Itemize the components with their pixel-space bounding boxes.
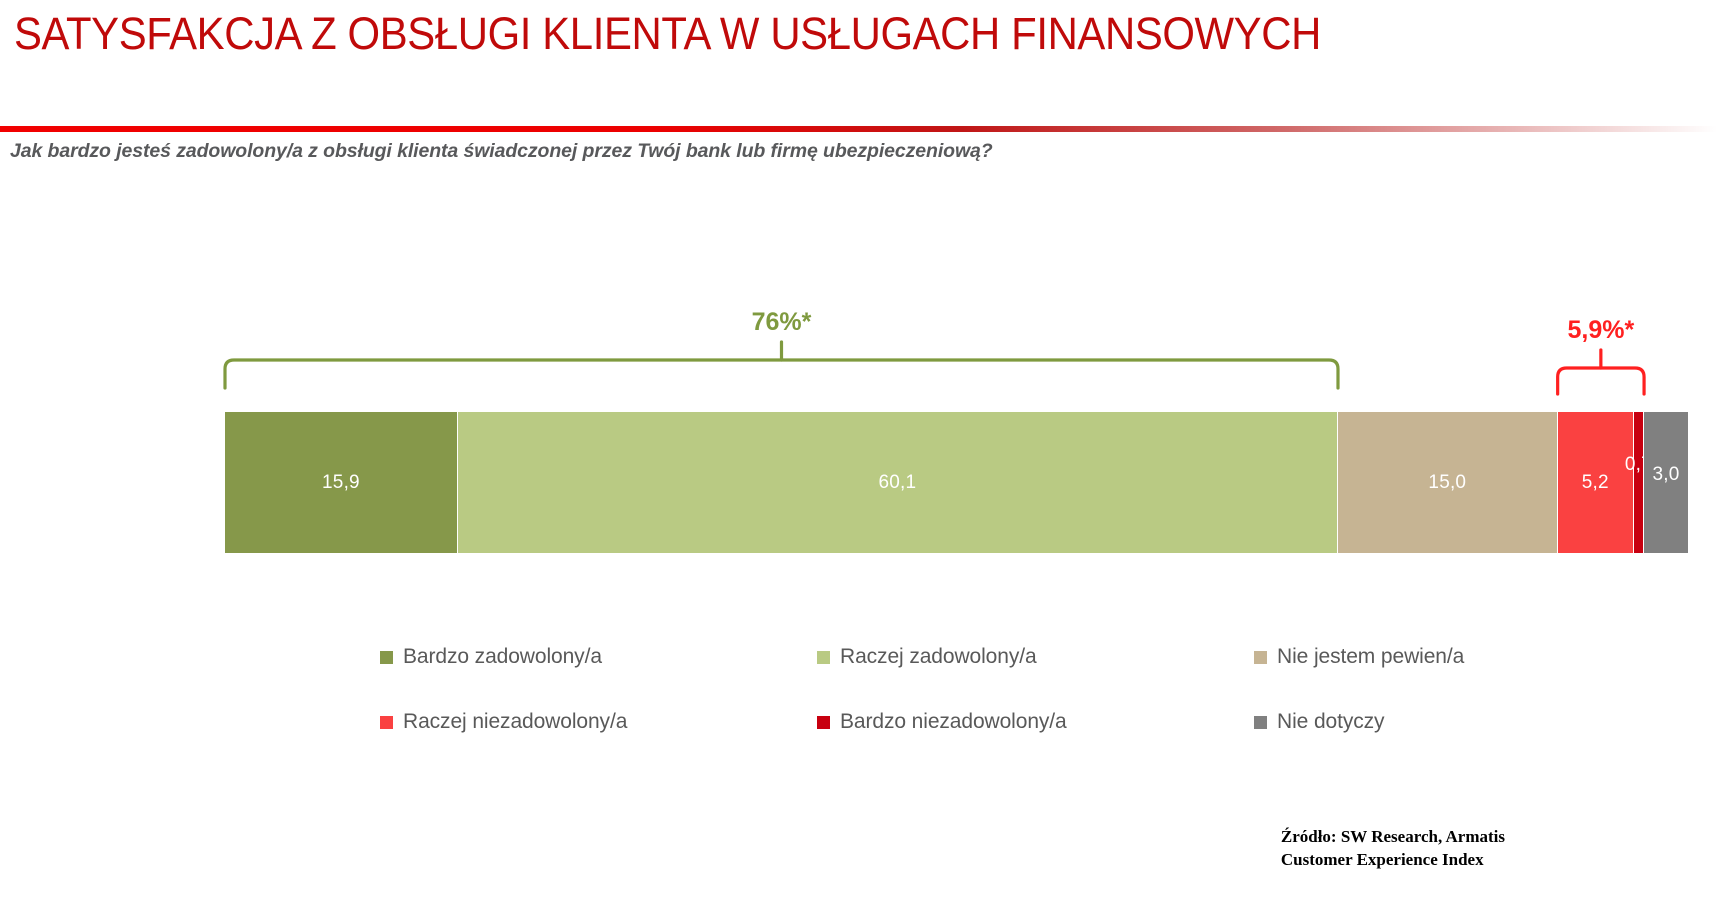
page-title: SATYSFAKCJA Z OBSŁUGI KLIENTA W USŁUGACH… (14, 6, 1465, 62)
legend-item[interactable]: Bardzo zadowolony/a (380, 645, 817, 669)
legend-label: Nie jestem pewien/a (1277, 645, 1464, 669)
legend-swatch-icon (380, 651, 393, 664)
legend-label: Bardzo niezadowolony/a (840, 710, 1067, 734)
bar-segment-value: 60,1 (879, 472, 917, 494)
bracket-label-negative: 5,9%* (1568, 316, 1635, 345)
legend-swatch-icon (817, 651, 830, 664)
bracket-label-positive: 76%* (752, 308, 812, 337)
legend-item[interactable]: Nie jestem pewien/a (1254, 645, 1554, 669)
legend-label: Bardzo zadowolony/a (403, 645, 602, 669)
bar-segment: 0,7 (1634, 412, 1644, 553)
legend-item[interactable]: Raczej niezadowolony/a (380, 710, 817, 734)
legend-swatch-icon (1254, 716, 1267, 729)
bar-segment-value: 15,9 (322, 472, 360, 494)
bar-segment-value: 5,2 (1582, 472, 1609, 494)
legend-item[interactable]: Bardzo niezadowolony/a (817, 710, 1254, 734)
legend-label: Nie dotyczy (1277, 710, 1384, 734)
bar-segment: 15,0 (1338, 412, 1558, 553)
legend-swatch-icon (380, 716, 393, 729)
legend-item[interactable]: Nie dotyczy (1254, 710, 1554, 734)
bar-segment-value: 3,0 (1652, 464, 1679, 486)
stacked-bar: 15,960,115,05,20,73,0 (225, 412, 1688, 553)
bar-segment: 60,1 (458, 412, 1338, 553)
survey-question: Jak bardzo jesteś zadowolony/a z obsługi… (10, 140, 993, 163)
slide-root: SATYSFAKCJA Z OBSŁUGI KLIENTA W USŁUGACH… (0, 0, 1717, 901)
header-divider-rule (0, 126, 1717, 132)
legend-row: Raczej niezadowolony/aBardzo niezadowolo… (380, 710, 1440, 775)
bar-segment: 3,0 (1644, 412, 1688, 553)
source-note: Źródło: SW Research, Armatis Customer Ex… (1281, 825, 1505, 871)
source-line-2: Customer Experience Index (1281, 848, 1505, 871)
legend-item[interactable]: Raczej zadowolony/a (817, 645, 1254, 669)
chart-legend: Bardzo zadowolony/aRaczej zadowolony/aNi… (380, 645, 1440, 775)
legend-swatch-icon (817, 716, 830, 729)
legend-swatch-icon (1254, 651, 1267, 664)
legend-label: Raczej niezadowolony/a (403, 710, 627, 734)
bar-segment-value: 15,0 (1428, 472, 1466, 494)
legend-row: Bardzo zadowolony/aRaczej zadowolony/aNi… (380, 645, 1440, 710)
bar-segment: 15,9 (225, 412, 458, 553)
bar-segment: 5,2 (1558, 412, 1634, 553)
legend-label: Raczej zadowolony/a (840, 645, 1037, 669)
source-line-1: Źródło: SW Research, Armatis (1281, 825, 1505, 848)
